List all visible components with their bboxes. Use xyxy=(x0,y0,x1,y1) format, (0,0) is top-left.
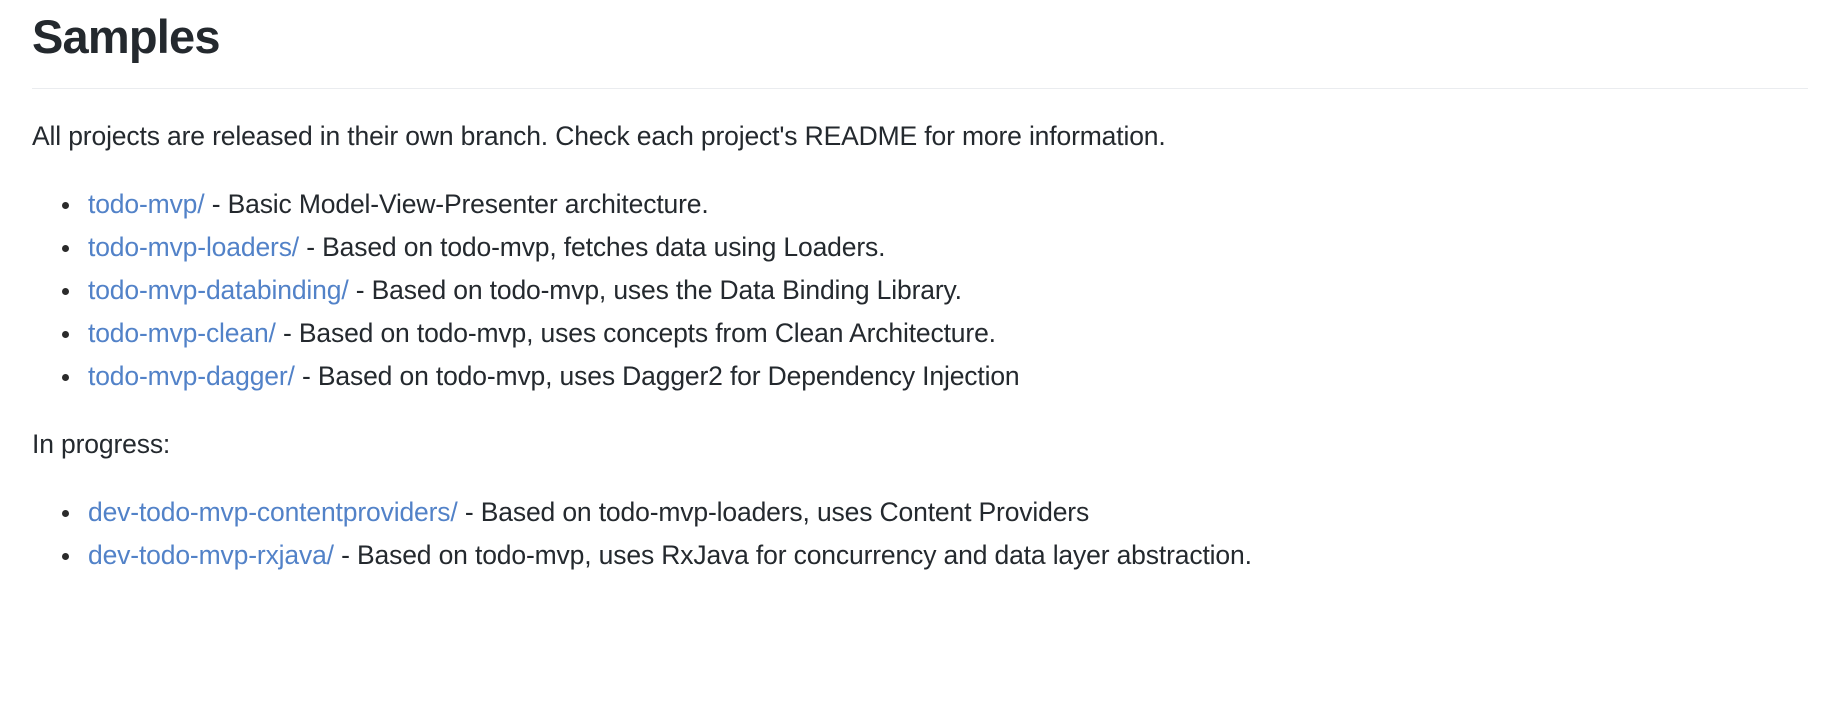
bullet-dot-icon xyxy=(62,331,69,338)
bullet-dot-icon xyxy=(62,288,69,295)
sample-link-todo-mvp-clean[interactable]: todo-mvp-clean/ xyxy=(88,318,276,348)
list-item: todo-mvp/ - Basic Model-View-Presenter a… xyxy=(32,183,1808,226)
sample-description: - Based on todo-mvp, uses the Data Bindi… xyxy=(349,275,962,305)
sample-link-todo-mvp-loaders[interactable]: todo-mvp-loaders/ xyxy=(88,232,299,262)
readme-page: Samples All projects are released in the… xyxy=(0,0,1840,577)
bullet-dot-icon xyxy=(62,374,69,381)
bullet-dot-icon xyxy=(62,553,69,560)
sample-description: - Based on todo-mvp, uses Dagger2 for De… xyxy=(295,361,1020,391)
sample-link-todo-mvp-databinding[interactable]: todo-mvp-databinding/ xyxy=(88,275,349,305)
bullet-dot-icon xyxy=(62,202,69,209)
in-progress-label: In progress: xyxy=(32,398,1808,465)
sample-link-todo-mvp-dagger[interactable]: todo-mvp-dagger/ xyxy=(88,361,295,391)
intro-paragraph: All projects are released in their own b… xyxy=(32,89,1808,157)
list-item: dev-todo-mvp-rxjava/ - Based on todo-mvp… xyxy=(32,534,1808,577)
sample-description: - Basic Model-View-Presenter architectur… xyxy=(204,189,708,219)
bullet-dot-icon xyxy=(62,510,69,517)
sample-link-dev-todo-mvp-rxjava[interactable]: dev-todo-mvp-rxjava/ xyxy=(88,540,334,570)
sample-description: - Based on todo-mvp, uses RxJava for con… xyxy=(334,540,1252,570)
list-item: todo-mvp-loaders/ - Based on todo-mvp, f… xyxy=(32,226,1808,269)
list-item: todo-mvp-databinding/ - Based on todo-mv… xyxy=(32,269,1808,312)
sample-description: - Based on todo-mvp, fetches data using … xyxy=(299,232,885,262)
in-progress-samples-list: dev-todo-mvp-contentproviders/ - Based o… xyxy=(32,465,1808,577)
list-item: dev-todo-mvp-contentproviders/ - Based o… xyxy=(32,491,1808,534)
page-title: Samples xyxy=(32,0,1808,64)
sample-link-dev-todo-mvp-contentproviders[interactable]: dev-todo-mvp-contentproviders/ xyxy=(88,497,458,527)
bullet-dot-icon xyxy=(62,245,69,252)
list-item: todo-mvp-clean/ - Based on todo-mvp, use… xyxy=(32,312,1808,355)
released-samples-list: todo-mvp/ - Basic Model-View-Presenter a… xyxy=(32,157,1808,398)
sample-description: - Based on todo-mvp, uses concepts from … xyxy=(276,318,996,348)
list-item: todo-mvp-dagger/ - Based on todo-mvp, us… xyxy=(32,355,1808,398)
sample-description: - Based on todo-mvp-loaders, uses Conten… xyxy=(458,497,1089,527)
sample-link-todo-mvp[interactable]: todo-mvp/ xyxy=(88,189,204,219)
